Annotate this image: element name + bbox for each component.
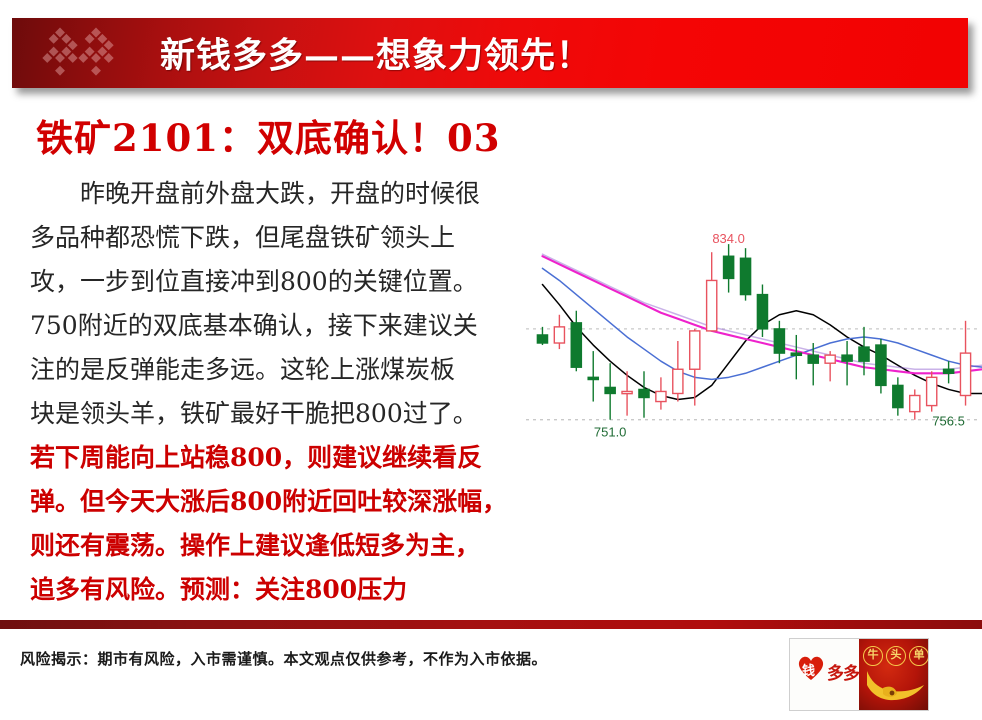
chart-annotation: 834.0 bbox=[712, 231, 745, 246]
risk-disclaimer: 风险揭示：期市有风险，入市需谨慎。本文观点仅供参考，不作为入市依据。 bbox=[20, 648, 547, 669]
footer-logos: 钱 多多 牛头单 bbox=[789, 638, 929, 711]
ntd-badges: 牛头单 bbox=[863, 646, 928, 666]
chart-annotation: 756.5 bbox=[932, 414, 965, 429]
article-line: 多品种都恐慌下跌，但尾盘铁矿领头上 bbox=[30, 216, 530, 260]
qdd-heart-char: 钱 bbox=[802, 660, 815, 679]
article-line: 注的是反弹能走多远。这轮上涨煤炭板 bbox=[30, 348, 530, 392]
header-banner: 新钱多多——想象力领先！ bbox=[12, 18, 968, 88]
bull-icon bbox=[861, 665, 927, 707]
qianduoduo-logo: 钱 多多 bbox=[790, 639, 859, 710]
article-line: 750附近的双底基本确认，接下来建议关 bbox=[30, 304, 530, 348]
article-body: 昨晚开盘前外盘大跌，开盘的时候很多品种都恐慌下跌，但尾盘铁矿领头上攻，一步到位直… bbox=[30, 172, 530, 612]
article-line: 若下周能向上站稳800，则建议继续看反 bbox=[30, 436, 530, 480]
header-title: 新钱多多——想象力领先！ bbox=[160, 28, 592, 79]
footer-divider bbox=[0, 620, 982, 629]
article-line: 追多有风险。预测：关注800压力 bbox=[30, 568, 530, 612]
article-line: 则还有震荡。操作上建议逢低短多为主， bbox=[30, 524, 530, 568]
nitoudan-logo: 牛头单 bbox=[859, 639, 928, 710]
qdd-side-text: 多多 bbox=[827, 659, 859, 684]
chart-annotation: 751.0 bbox=[594, 425, 627, 440]
chinese-knot-icon bbox=[34, 24, 130, 82]
article-line: 昨晚开盘前外盘大跌，开盘的时候很 bbox=[30, 172, 530, 216]
ntd-badge: 头 bbox=[886, 646, 906, 666]
article-line: 攻，一步到位直接冲到800的关键位置。 bbox=[30, 260, 530, 304]
ntd-badge: 牛 bbox=[863, 646, 883, 666]
ntd-badge: 单 bbox=[909, 646, 928, 666]
article-line: 弹。但今天大涨后800附近回吐较深涨幅， bbox=[30, 480, 530, 524]
page-title: 铁矿2101：双底确认！03 bbox=[36, 108, 500, 162]
candlestick-chart: 834.0751.0756.5 bbox=[520, 212, 982, 490]
article-line: 块是领头羊，铁矿最好干脆把800过了。 bbox=[30, 392, 530, 436]
